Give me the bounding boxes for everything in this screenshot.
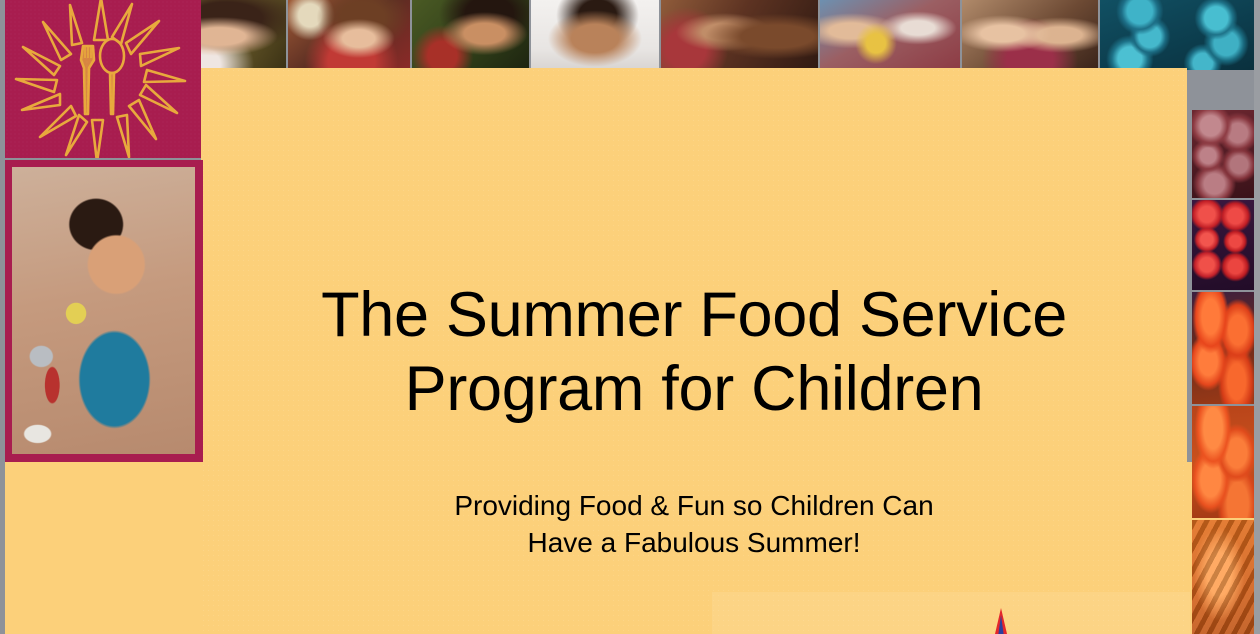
left-photo-frame (3, 160, 203, 462)
bottom-light-panel (712, 592, 1190, 634)
photo-carrots (1192, 520, 1254, 634)
slide-subtitle-line-2: Have a Fabulous Summer! (201, 524, 1187, 561)
slide-subtitle: Providing Food & Fun so Children Can Hav… (201, 487, 1187, 561)
gold-background-left (5, 462, 205, 634)
photo-children-eating-together (661, 0, 818, 70)
fresh-produce-photo-strip (1192, 0, 1254, 634)
photo-blueberries (1192, 0, 1254, 108)
photo-smiling-girl-hand-on-cheek (531, 0, 659, 70)
photo-strawberries (1192, 200, 1254, 290)
red-blue-pennant-tip-icon (993, 608, 1009, 634)
page-edge-left (0, 0, 5, 634)
program-logo-block (5, 0, 201, 158)
photo-boy-holding-apple (412, 0, 529, 70)
slide-subtitle-line-1: Providing Food & Fun so Children Can (201, 487, 1187, 524)
slide-title-line-2: Program for Children (201, 352, 1187, 426)
photo-red-tomatoes (1192, 406, 1254, 518)
summer-food-service-sun-logo-icon (13, 0, 193, 158)
photo-boy-eating-snack (288, 0, 410, 70)
slide-title-line-1: The Summer Food Service (201, 278, 1187, 352)
photo-laughing-child-at-drinking-fountain (12, 167, 195, 454)
page-edge-right (1254, 0, 1260, 634)
presentation-slide: The Summer Food Service Program for Chil… (0, 0, 1260, 634)
photo-two-girls-smiling (962, 0, 1098, 70)
photo-red-grapes (1192, 110, 1254, 198)
slide-title: The Summer Food Service Program for Chil… (201, 278, 1187, 426)
photo-red-peppers (1192, 292, 1254, 404)
photo-children-on-playground (820, 0, 960, 70)
